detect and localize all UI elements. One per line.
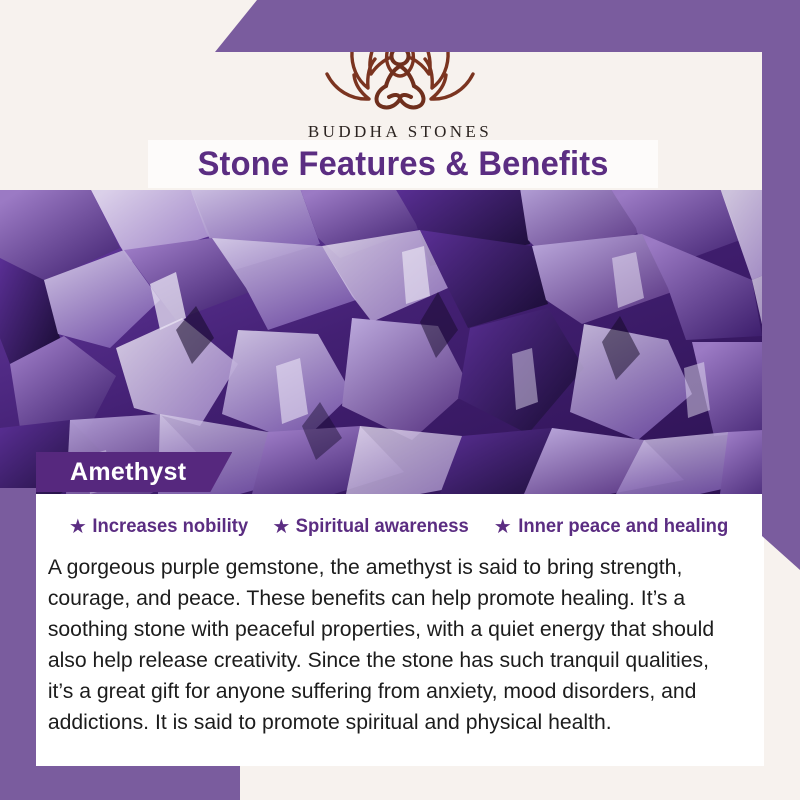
brand-name: BUDDHA STONES [0, 122, 800, 142]
stone-name: Amethyst [70, 458, 186, 487]
list-item: ★ Increases nobility [69, 516, 250, 538]
list-item: ★ Spiritual awareness [272, 516, 471, 538]
star-icon: ★ [69, 517, 87, 537]
frame-left-band [0, 488, 36, 800]
star-icon: ★ [272, 517, 290, 537]
amethyst-crystal-graphic [0, 188, 800, 494]
frame-right-band [762, 52, 800, 570]
list-item: ★ Inner peace and healing [494, 516, 731, 538]
feature-label: Inner peace and healing [518, 516, 728, 538]
amethyst-photo [0, 188, 800, 494]
feature-list: ★ Increases nobility ★ Spiritual awarene… [36, 494, 764, 538]
frame-top-band [215, 0, 800, 52]
content-panel: ★ Increases nobility ★ Spiritual awarene… [36, 494, 764, 766]
stone-description: A gorgeous purple gemstone, the amethyst… [36, 538, 753, 738]
frame-bottom-band [0, 766, 240, 800]
star-icon: ★ [494, 517, 512, 537]
feature-label: Spiritual awareness [296, 516, 469, 538]
page-title: Stone Features & Benefits [197, 145, 608, 184]
feature-label: Increases nobility [92, 516, 248, 538]
page-title-banner: Stone Features & Benefits [148, 140, 658, 188]
stone-name-banner: Amethyst [36, 452, 232, 492]
